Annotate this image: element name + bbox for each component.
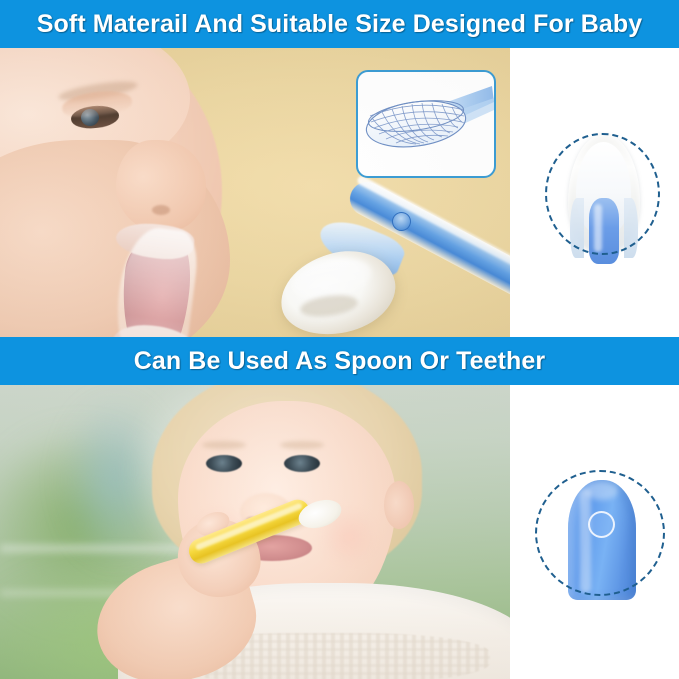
baby-feeding-photo xyxy=(0,48,510,337)
toddler-eyebrow-right xyxy=(280,441,324,449)
headline-banner-middle-text: Can Be Used As Spoon Or Teether xyxy=(134,347,546,376)
toddler-ear xyxy=(384,481,414,529)
spoon-closeup-panel xyxy=(510,48,679,337)
mesh-spoon-wireframe-icon xyxy=(358,72,494,176)
product-infographic: Soft Materail And Suitable Size Designed… xyxy=(0,0,679,679)
toddler-eyebrow-left xyxy=(202,441,246,449)
baby-nose xyxy=(116,140,206,232)
toddler-eye-right xyxy=(284,455,320,472)
headline-banner-top: Soft Materail And Suitable Size Designed… xyxy=(0,0,679,48)
baby-nostril xyxy=(152,205,170,215)
headline-banner-middle: Can Be Used As Spoon Or Teether xyxy=(0,337,679,385)
section-soft-material xyxy=(0,48,679,337)
toddler-eye-left xyxy=(206,455,242,472)
toddler-teether-photo xyxy=(0,385,510,679)
mesh-detail-inset xyxy=(356,70,496,178)
closeup-dashed-circle xyxy=(545,133,660,255)
section-spoon-or-teether xyxy=(0,385,679,679)
closeup-dashed-circle xyxy=(535,470,665,596)
headline-banner-top-text: Soft Materail And Suitable Size Designed… xyxy=(37,10,642,39)
teether-closeup-panel xyxy=(510,385,679,679)
